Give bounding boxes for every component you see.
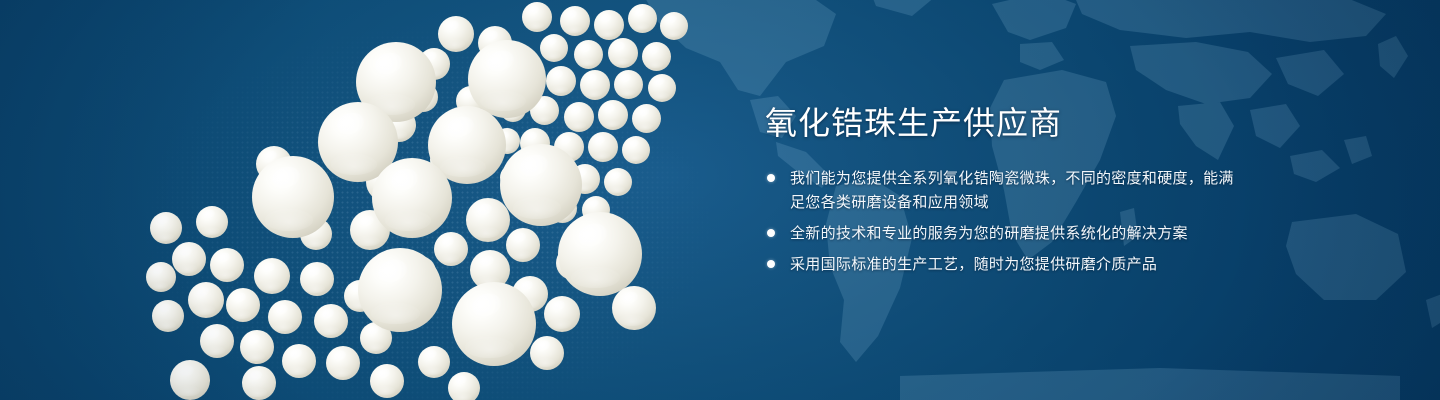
hero-banner: 氧化锆珠生产供应商 我们能为您提供全系列氧化锆陶瓷微珠，不同的密度和硬度，能满足… [0,0,1440,400]
background-vignette [0,0,1440,400]
